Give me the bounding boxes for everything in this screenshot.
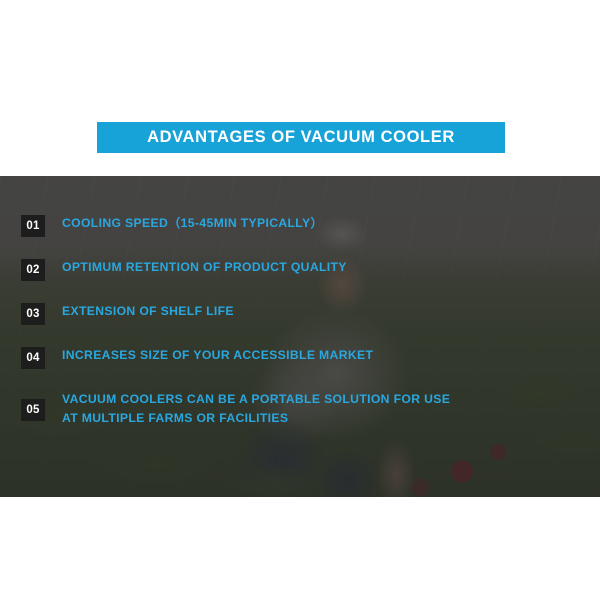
item-label: EXTENSION OF SHELF LIFE	[62, 302, 234, 321]
item-number-badge: 03	[21, 303, 45, 325]
page-title-banner: ADVANTAGES OF VACUUM COOLER	[97, 122, 505, 153]
item-label: COOLING SPEED（15-45MIN TYPICALLY）	[62, 214, 323, 233]
list-item: 05 VACUUM COOLERS CAN BE A PORTABLE SOLU…	[0, 390, 600, 428]
item-number-badge: 01	[21, 215, 45, 237]
list-item: 04 INCREASES SIZE OF YOUR ACCESSIBLE MAR…	[0, 346, 600, 369]
advantages-list: 01 COOLING SPEED（15-45MIN TYPICALLY） 02 …	[0, 176, 600, 497]
item-label: OPTIMUM RETENTION OF PRODUCT QUALITY	[62, 258, 347, 277]
item-number-badge: 04	[21, 347, 45, 369]
item-number-badge: 05	[21, 399, 45, 421]
item-number-badge: 02	[21, 259, 45, 281]
list-item: 01 COOLING SPEED（15-45MIN TYPICALLY）	[0, 214, 600, 237]
list-item: 03 EXTENSION OF SHELF LIFE	[0, 302, 600, 325]
list-item: 02 OPTIMUM RETENTION OF PRODUCT QUALITY	[0, 258, 600, 281]
item-label: INCREASES SIZE OF YOUR ACCESSIBLE MARKET	[62, 346, 373, 365]
page-title: ADVANTAGES OF VACUUM COOLER	[147, 129, 455, 146]
slide-root: ADVANTAGES OF VACUUM COOLER 01 COOLING S…	[0, 0, 600, 600]
item-label: VACUUM COOLERS CAN BE A PORTABLE SOLUTIO…	[62, 390, 450, 428]
